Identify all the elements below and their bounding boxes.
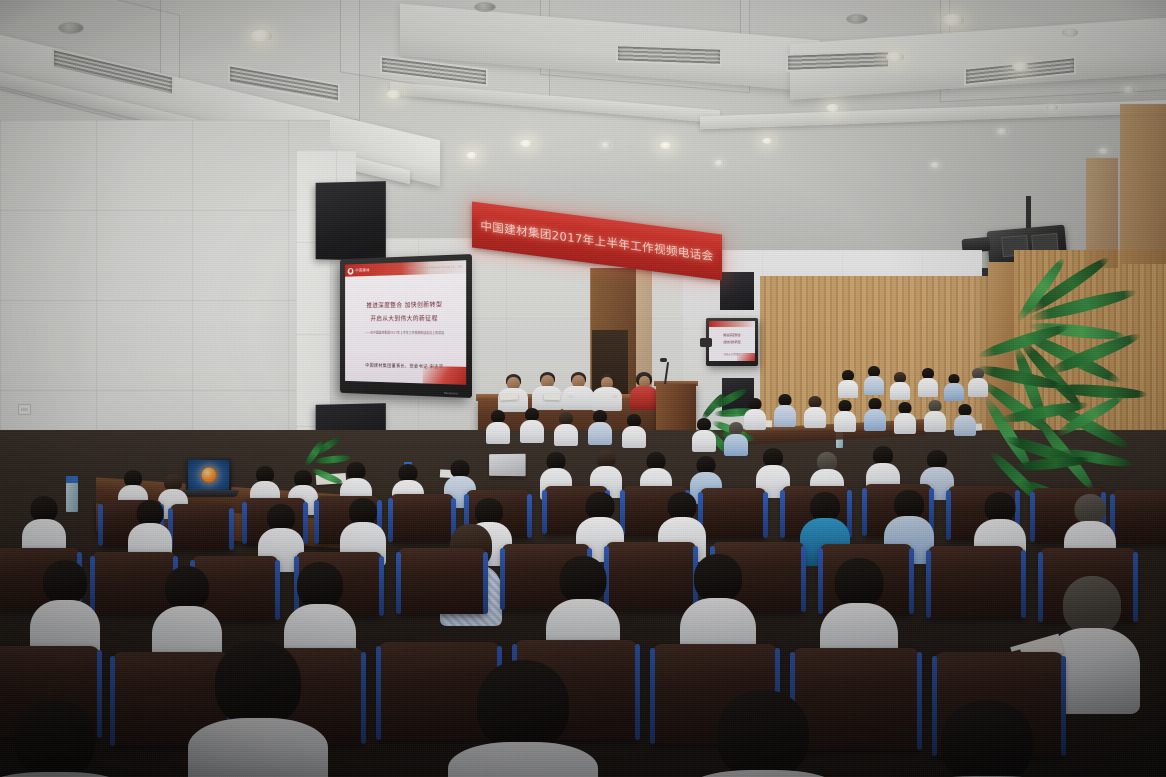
microphone-head [660,358,667,362]
ceiling-downlight [600,142,611,148]
presidium-member [592,374,622,406]
ceiling-downlight [886,52,904,62]
slide-subtitle: ——在中国建材集团2017年上半年工作视频电话会议上的讲话 [350,330,460,335]
secondary-line1: 推进深度整合 [709,333,755,337]
ceiling-downlight [762,138,773,144]
document [544,394,560,401]
attendee [588,410,612,444]
display-brand: Panasonic [444,391,458,395]
projector-mount [1026,196,1031,230]
laptop-screen-content [188,460,229,490]
attendee-foreground [688,690,838,777]
attendee [864,398,886,430]
slide-title-line1: 推进深度整合 加快创新转型 [345,299,466,309]
presidium-member [532,372,562,406]
ceiling-downlight [714,160,724,166]
attendee [918,368,938,396]
attendee [894,402,916,432]
ceiling-downlight [520,140,533,147]
secondary-display[interactable]: 推进深度整合 加快创新转型 开启从大到伟大 [706,318,758,366]
conference-room-photo: 中国建材集团2017年上半年工作视频电话会 中国建材 China Buildin… [0,0,1166,777]
ceiling-downlight [660,142,672,149]
ceiling-downlight [826,104,840,112]
bottle-cap [66,476,78,483]
slide-corner-graphic [423,366,466,385]
secondary-display-screen: 推进深度整合 加快创新转型 开启从大到伟大 [709,321,755,361]
slide-title-line2: 开启从大到伟大的新征程 [345,313,466,322]
ceiling-speaker-icon [846,14,868,24]
ceiling-speaker-icon [58,22,84,34]
attendee-foreground [0,700,120,777]
secondary-corner-graphic [737,353,755,361]
cnbm-logo-icon [348,268,354,275]
attendee [924,400,946,430]
water-bottle [66,482,78,512]
laptop-secondary[interactable] [489,454,526,476]
laptop-keyboard[interactable] [181,490,240,497]
attendee-foreground [448,660,598,777]
secondary-display-mount [700,338,712,347]
attendee-foreground [188,640,328,777]
ceiling-downlight [466,152,478,159]
attendee [724,422,748,454]
attendee [954,404,976,434]
ceiling-downlight [942,14,964,26]
wall-outlet[interactable] [18,404,31,415]
acoustic-panel-right [720,272,754,310]
ceiling-downlight [996,128,1008,135]
auditorium-seat [700,488,766,538]
ceiling-downlight [1062,28,1078,37]
ceiling-downlight [1012,62,1029,71]
slide-body: 推进深度整合 加快创新转型 开启从大到伟大的新征程 ——在中国建材集团2017年… [345,273,466,385]
secondary-slide-band [709,321,755,327]
slide-header-en: China Building Material Group Co., Ltd. [409,265,464,270]
auditorium-seat [170,504,232,550]
attendee [804,396,826,426]
attendee-foreground [912,700,1062,777]
ceiling-downlight [930,162,940,168]
presidium-member [562,372,594,406]
attendee [864,366,884,394]
wood-trim-right [1120,104,1166,264]
attendee [774,394,796,426]
auditorium-seat [928,546,1024,618]
ceiling-vent [616,44,722,66]
slide-logo-text: 中国建材 [355,267,369,273]
teacup [568,392,574,398]
ceiling-downlight [1098,148,1109,154]
attendee [520,408,544,442]
attendee [944,374,964,400]
attendee [968,368,988,396]
ceiling-downlight [1122,86,1135,93]
attendee [622,414,646,446]
attendee [692,418,716,450]
attendee [554,412,578,444]
windows-logo-icon [202,467,217,482]
auditorium-seat [398,548,486,614]
document [500,394,518,401]
ceiling-vent [786,50,890,72]
attendee [30,560,100,660]
attendee [486,410,510,442]
wood-trim-upper [1086,158,1118,268]
presidium-member-red [630,372,658,406]
attendee [838,370,858,396]
main-display-screen: 中国建材 China Building Material Group Co., … [345,260,466,385]
secondary-line2: 加快创新转型 [709,340,755,344]
acoustic-panel [316,181,386,261]
main-display[interactable]: 中国建材 China Building Material Group Co., … [340,254,472,398]
attendee [834,400,856,430]
ceiling-speaker-icon [474,2,496,12]
ceiling-downlight [386,90,402,99]
attendee [890,372,910,398]
auditorium-seat [1112,490,1166,544]
presidium-member [498,374,528,406]
ceiling-downlight [1046,104,1058,111]
laptop-primary[interactable] [186,458,231,493]
teacup [612,392,618,398]
ceiling-downlight [250,30,272,42]
